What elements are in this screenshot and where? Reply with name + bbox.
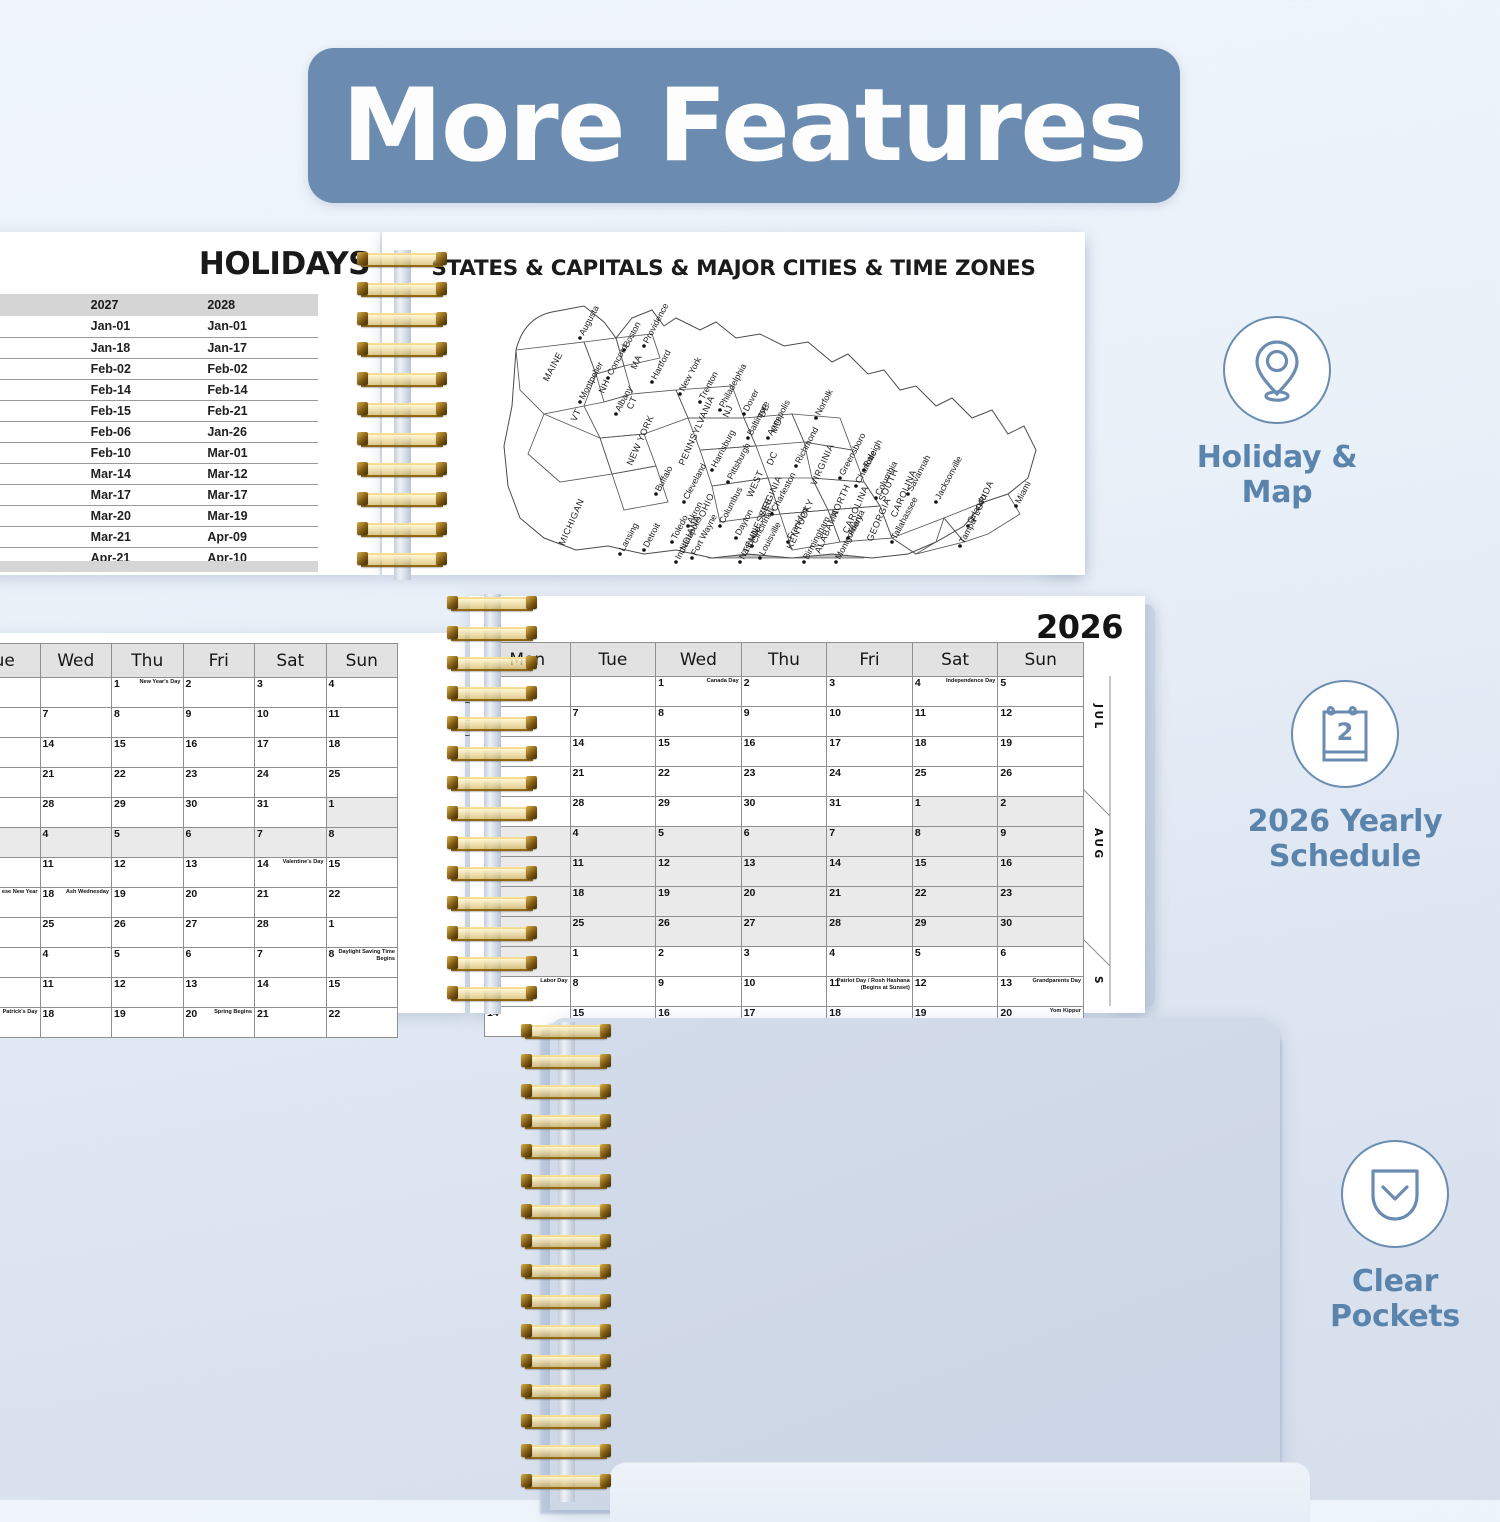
calendar-day-cell[interactable]: 9 [741, 707, 827, 737]
spiral-loop-cap [447, 686, 458, 699]
calendar-day-cell[interactable]: 24 [255, 768, 327, 798]
calendar-day-number: 25 [329, 768, 341, 780]
spiral-loop-cap [447, 596, 458, 609]
calendar-day-number: 5 [658, 827, 664, 839]
spiral-loop-cap [447, 956, 458, 969]
map-page-title: STATES & CAPITALS & MAJOR CITIES & TIME … [382, 256, 1085, 281]
calendar-day-cell[interactable]: 29 [912, 917, 998, 947]
calendar-day-cell[interactable] [0, 678, 40, 708]
calendar-day-cell[interactable]: 3 [255, 678, 327, 708]
spiral-loop [448, 686, 536, 701]
calendar-day-cell[interactable]: 25 [40, 918, 112, 948]
calendar-day-number: 21 [257, 888, 269, 900]
calendar-week-row: 17181920212223 [485, 887, 1084, 917]
spiral-loop-cap [447, 926, 458, 939]
calendar-day-cell[interactable] [0, 858, 40, 888]
calendar-day-number: 9 [186, 708, 192, 720]
calendar-left-page: ueWedThuFriSatSun 1New Year's Day2347891… [0, 633, 465, 1013]
spiral-loop [522, 1354, 610, 1369]
holidays-cell: Jan-18 [85, 337, 202, 358]
calendar-day-cell[interactable]: 27 [183, 918, 255, 948]
calendar-day-cell[interactable]: 18Ash Wednesday [40, 888, 112, 918]
spiral-loop-cap [521, 1114, 532, 1127]
calendar-day-cell[interactable]: 15 [656, 737, 742, 767]
calendar-day-cell[interactable] [40, 678, 112, 708]
calendar-day-cell[interactable]: 30 [998, 917, 1084, 947]
calendar-day-cell[interactable]: 31 [255, 798, 327, 828]
calendar-day-number: 16 [744, 737, 756, 749]
calendar-day-number: 2 [1000, 797, 1006, 809]
feature-label: Clear Pockets [1290, 1264, 1500, 1335]
calendar-day-cell[interactable]: 4 [570, 827, 656, 857]
spiral-loop [522, 1114, 610, 1129]
spiral-loop [448, 986, 536, 1001]
spiral-loop [448, 656, 536, 671]
calendar-week-row: ese New Year18Ash Wednesday19202122 [0, 888, 398, 918]
spiral-loop [522, 1174, 610, 1189]
calendar-day-number: 11 [915, 707, 926, 719]
spiral-loop-cap [357, 552, 368, 565]
calendar-day-cell[interactable]: 21 [570, 767, 656, 797]
spiral-loop [522, 1474, 610, 1489]
calendar-day-cell[interactable]: 26 [112, 918, 184, 948]
holiday-map-spread: HOLIDAYS 620272028 1Jan-01Jan-019Jan-18J… [0, 232, 1095, 582]
calendar-day-cell[interactable]: 12 [912, 977, 998, 1007]
spiral-loop-cap [526, 686, 537, 699]
calendar-day-cell[interactable]: 2 [741, 677, 827, 707]
calendar-day-number: 26 [114, 918, 126, 930]
calendar-day-number: 4 [829, 947, 835, 959]
calendar-day-cell[interactable]: 16 [183, 738, 255, 768]
calendar-day-number: 29 [658, 797, 670, 809]
calendar-year-label: 2026 [1036, 608, 1123, 646]
calendar-right-header-row: MonTueWedThuFriSatSun [485, 643, 1084, 677]
calendar-day-cell[interactable]: 16 [998, 857, 1084, 887]
spiral-loop-cap [436, 522, 447, 535]
calendar-event-label: New Year's Day [139, 679, 180, 686]
calendar-day-cell[interactable]: 4 [40, 828, 112, 858]
calendar-week-row: 11121314Valentine's Day15 [0, 858, 398, 888]
calendar-day-number: 6 [744, 827, 750, 839]
calendar-week-row: 1New Year's Day234 [0, 678, 398, 708]
calendar-day-cell[interactable]: 29 [112, 798, 184, 828]
calendar-day-cell[interactable] [0, 768, 40, 798]
calendar-day-cell[interactable]: 11Patriot Day / Rosh Hashana (Begins at … [827, 977, 913, 1007]
holidays-cell: Apr-09 [201, 526, 318, 547]
calendar-day-cell[interactable]: 3 [827, 677, 913, 707]
calendar-day-cell[interactable]: 13Grandparents Day [998, 977, 1084, 1007]
calendar-day-cell[interactable]: 28 [570, 797, 656, 827]
calendar-day-cell[interactable]: 6 [741, 827, 827, 857]
holidays-cell: 7 [0, 421, 85, 442]
calendar-day-cell[interactable]: 17 [255, 738, 327, 768]
notebook-cover-with-pocket [500, 1010, 1280, 1510]
calendar-day-cell[interactable]: 6 [998, 947, 1084, 977]
calendar-day-cell[interactable]: 20 [183, 888, 255, 918]
calendar-day-cell[interactable]: 5 [912, 947, 998, 977]
calendar-day-number: 26 [658, 917, 670, 929]
calendar-day-cell[interactable]: 10 [741, 977, 827, 1007]
calendar-day-number: 4 [329, 678, 335, 690]
calendar-day-cell[interactable]: 9 [656, 977, 742, 1007]
calendar-day-number: 2 [186, 678, 192, 690]
calendar-day-cell[interactable]: 11 [326, 708, 398, 738]
calendar-day-cell[interactable]: 9 [998, 827, 1084, 857]
calendar-day-cell[interactable]: 28 [827, 917, 913, 947]
calendar-day-number: 7 [257, 948, 263, 960]
calendar-day-number: 8 [915, 827, 921, 839]
calendar-day-cell[interactable]: 13 [183, 978, 255, 1008]
holidays-cell: Feb-21 [201, 400, 318, 421]
calendar-week-row: 45678 [0, 828, 398, 858]
page-title: HOLIDAYS [199, 246, 370, 282]
calendar-day-cell[interactable]: 9 [183, 708, 255, 738]
calendar-day-cell[interactable]: 8 [912, 827, 998, 857]
calendar-day-number: 22 [114, 768, 126, 780]
calendar-day-number: 6 [186, 828, 192, 840]
spiral-loop [358, 372, 446, 387]
calendar-day-number: 18 [915, 737, 927, 749]
feature-holiday-map[interactable]: Holiday & Map [1172, 316, 1382, 511]
table-row: 8Feb-10Mar-01 [0, 442, 318, 463]
calendar-day-cell[interactable]: 7 [570, 707, 656, 737]
calendar-day-number: 19 [114, 1008, 126, 1020]
calendar-day-number: 24 [257, 768, 269, 780]
calendar-day-cell[interactable]: 19 [998, 737, 1084, 767]
calendar-day-cell[interactable]: 7 [40, 708, 112, 738]
calendar-day-cell[interactable]: 20Spring Begins [183, 1008, 255, 1038]
calendar-day-cell[interactable]: 21 [827, 887, 913, 917]
calendar-day-cell[interactable]: 19 [112, 888, 184, 918]
calendar-day-number: 2 [744, 677, 750, 689]
spiral-loop [358, 282, 446, 297]
calendar-day-cell[interactable]: 4 [40, 948, 112, 978]
calendar-day-cell[interactable]: 12 [112, 978, 184, 1008]
calendar-day-cell[interactable]: 19 [656, 887, 742, 917]
calendar-day-cell[interactable]: 18 [570, 887, 656, 917]
calendar-day-number: 25 [915, 767, 927, 779]
calendar-day-number: 8 [573, 977, 579, 989]
calendar-day-cell[interactable]: 21 [255, 1008, 327, 1038]
spiral-loop-cap [600, 1294, 611, 1307]
calendar-day-cell[interactable]: 12 [656, 857, 742, 887]
calendar-day-cell[interactable]: 1New Year's Day [112, 678, 184, 708]
calendar-day-number: 3 [829, 677, 835, 689]
calendar-day-cell[interactable] [0, 828, 40, 858]
calendar-day-cell[interactable]: 12 [112, 858, 184, 888]
calendar-day-cell[interactable] [0, 708, 40, 738]
spiral-loop-cap [526, 746, 537, 759]
calendar-week-row: 252627281 [0, 918, 398, 948]
feature-yearly-schedule[interactable]: 2 2026 Yearly Schedule [1240, 680, 1450, 875]
calendar-day-cell[interactable]: ese New Year [0, 888, 40, 918]
holidays-col-header: 2028 [201, 294, 318, 316]
calendar-day-cell[interactable]: 25 [326, 768, 398, 798]
spiral-loop-cap [521, 1024, 532, 1037]
holidays-cell: Feb-14 [85, 379, 202, 400]
calendar-day-cell[interactable]: 13 [741, 857, 827, 887]
calendar-week-row: 6789101112 [485, 707, 1084, 737]
calendar-day-cell[interactable]: 4 [827, 947, 913, 977]
table-row: 08Mar-14Mar-12 [0, 463, 318, 484]
table-row: 1Jan-01Jan-01 [0, 316, 318, 337]
calendar-day-cell[interactable]: 1 [326, 798, 398, 828]
calendar-day-number: 15 [915, 857, 927, 869]
spiral-loop-cap [521, 1474, 532, 1487]
spiral-loop [448, 596, 536, 611]
calendar-day-number: 17 [829, 737, 841, 749]
calendar-day-number: 21 [829, 887, 841, 899]
spiral-loop [522, 1234, 610, 1249]
spiral-loop-cap [521, 1084, 532, 1097]
calendar-day-cell[interactable]: 22 [326, 1008, 398, 1038]
calendar-day-cell[interactable]: 23 [741, 767, 827, 797]
calendar-day-cell[interactable]: 18 [40, 1008, 112, 1038]
calendar-day-number: 12 [1000, 707, 1012, 719]
calendar-week-row: 1112131415 [0, 978, 398, 1008]
calendar-day-cell[interactable]: 7 [827, 827, 913, 857]
calendar-day-number: 10 [744, 977, 756, 989]
spiral-loop-cap [436, 252, 447, 265]
calendar-day-number: 9 [658, 977, 664, 989]
calendar-event-label: Spring Begins [214, 1009, 252, 1016]
calendar-day-cell[interactable]: 28 [40, 798, 112, 828]
calendar-day-cell[interactable]: 7 [255, 948, 327, 978]
calendar-day-cell[interactable]: 28 [255, 918, 327, 948]
calendar-day-number: 1 [915, 797, 921, 809]
states-map-page: STATES & CAPITALS & MAJOR CITIES & TIME … [382, 232, 1085, 575]
calendar-day-cell[interactable]: 7 [255, 828, 327, 858]
month-tab-strip: JUL AUG S [1084, 676, 1116, 1006]
calendar-day-cell[interactable]: 22 [326, 888, 398, 918]
calendar-day-cell[interactable]: 8 [570, 977, 656, 1007]
calendar-day-cell[interactable]: 15 [112, 738, 184, 768]
spiral-loop-cap [521, 1144, 532, 1157]
calendar-day-cell[interactable] [0, 738, 40, 768]
spiral-loop [522, 1264, 610, 1279]
holidays-cell: 8 [0, 442, 85, 463]
calendar-day-cell[interactable]: 26 [656, 917, 742, 947]
calendar-day-cell[interactable]: 13 [183, 858, 255, 888]
table-row: 20Mar-20Mar-19 [0, 505, 318, 526]
calendar-day-cell[interactable]: 10 [827, 707, 913, 737]
calendar-week-row: 1415161718 [0, 738, 398, 768]
calendar-day-cell[interactable]: 22 [912, 887, 998, 917]
calendar-event-label: Labor Day [540, 978, 567, 985]
calendar-day-cell[interactable]: 27 [741, 917, 827, 947]
holidays-cell: Mar-20 [85, 505, 202, 526]
holidays-cell: Feb-02 [201, 358, 318, 379]
holidays-cell: Feb-02 [85, 358, 202, 379]
calendar-day-number: 23 [1000, 887, 1012, 899]
holidays-body: 1Jan-01Jan-019Jan-18Jan-1702Feb-02Feb-02… [0, 316, 318, 568]
spiral-loop-cap [357, 372, 368, 385]
calendar-day-cell[interactable]: 1 [912, 797, 998, 827]
calendar-day-number: 6 [186, 948, 192, 960]
spiral-loop-cap [521, 1324, 532, 1337]
spiral-loop-cap [357, 252, 368, 265]
spiral-loop-cap [436, 402, 447, 415]
calendar-day-number: 14 [257, 858, 269, 870]
spiral-binding-top [358, 250, 446, 580]
calendar-day-cell[interactable]: 8 [112, 708, 184, 738]
spiral-loop-cap [447, 836, 458, 849]
calendar-day-cell[interactable]: 22 [112, 768, 184, 798]
calendar-day-cell[interactable]: 11 [570, 857, 656, 887]
calendar-day-number: 14 [43, 738, 55, 750]
spiral-loop-cap [357, 462, 368, 475]
calendar-day-cell[interactable] [0, 948, 40, 978]
calendar-day-cell[interactable]: 2 [183, 678, 255, 708]
calendar-day-cell[interactable] [570, 677, 656, 707]
calendar-day-number: 3 [744, 947, 750, 959]
calendar-day-cell[interactable]: 1 [326, 918, 398, 948]
calendar-day-cell[interactable]: 12 [998, 707, 1084, 737]
calendar-day-cell[interactable]: 8Daylight Saving Time Begins [326, 948, 398, 978]
calendar-day-cell[interactable]: 4 [326, 678, 398, 708]
clear-pocket [610, 1462, 1310, 1522]
holidays-cell: Feb-10 [85, 442, 202, 463]
calendar-day-cell[interactable]: 5 [998, 677, 1084, 707]
calendar-day-number: 29 [114, 798, 126, 810]
calendar-day-cell[interactable]: 1 [570, 947, 656, 977]
spiral-loop-cap [521, 1384, 532, 1397]
calendar-day-cell[interactable]: 19 [112, 1008, 184, 1038]
spiral-loop [522, 1414, 610, 1429]
holidays-cell: Mar-14 [85, 463, 202, 484]
spiral-loop-cap [526, 866, 537, 879]
yearly-calendar-spread: ueWedThuFriSatSun 1New Year's Day2347891… [0, 578, 1170, 1018]
calendar-day-cell[interactable]: 5 [112, 948, 184, 978]
calendar-day-cell[interactable]: 6 [183, 948, 255, 978]
calendar-day-number: 5 [114, 948, 120, 960]
calendar-day-cell[interactable]: 5 [112, 828, 184, 858]
calendar-day-cell[interactable] [0, 918, 40, 948]
calendar-day-cell[interactable]: 11 [40, 858, 112, 888]
calendar-day-cell[interactable]: 22 [656, 767, 742, 797]
spiral-loop-cap [521, 1444, 532, 1457]
calendar-day-cell[interactable]: 23 [998, 887, 1084, 917]
spiral-loop-cap [600, 1114, 611, 1127]
calendar-day-cell[interactable]: 2 [656, 947, 742, 977]
spiral-loop [522, 1324, 610, 1339]
calendar-day-cell[interactable]: 23 [183, 768, 255, 798]
calendar-day-cell[interactable]: 14Valentine's Day [255, 858, 327, 888]
spiral-loop-cap [521, 1414, 532, 1427]
calendar-day-cell[interactable]: 16 [741, 737, 827, 767]
calendar-day-cell[interactable]: 3 [741, 947, 827, 977]
calendar-day-cell[interactable]: 25 [570, 917, 656, 947]
calendar-day-cell[interactable]: 29 [656, 797, 742, 827]
holidays-cell: 29 [0, 526, 85, 547]
calendar-day-number: 1 [573, 947, 579, 959]
calendar-day-cell[interactable]: Patrick's Day [0, 1008, 40, 1038]
calendar-day-cell[interactable]: 15 [326, 978, 398, 1008]
calendar-weekday-header: Fri [827, 643, 913, 677]
feature-clear-pockets[interactable]: Clear Pockets [1290, 1140, 1500, 1335]
calendar-day-cell[interactable]: 14 [255, 978, 327, 1008]
spiral-loop-cap [447, 656, 458, 669]
holidays-cell: Mar-12 [201, 463, 318, 484]
calendar-weekday-header: Sun [998, 643, 1084, 677]
spiral-loop-cap [447, 776, 458, 789]
calendar-day-number: 1 [329, 798, 335, 810]
calendar-day-cell[interactable]: 2 [998, 797, 1084, 827]
calendar-day-cell[interactable]: 6 [183, 828, 255, 858]
calendar-day-cell[interactable]: 17 [827, 737, 913, 767]
calendar-week-row: 20212223242526 [485, 767, 1084, 797]
calendar-day-cell[interactable]: 1Canada Day [656, 677, 742, 707]
calendar-day-cell[interactable]: 26 [998, 767, 1084, 797]
calendar-day-cell[interactable]: 10 [255, 708, 327, 738]
spiral-loop [522, 1204, 610, 1219]
spiral-loop-cap [526, 986, 537, 999]
spiral-loop [448, 896, 536, 911]
calendar-day-cell[interactable]: 24 [827, 767, 913, 797]
spiral-loop [522, 1024, 610, 1039]
calendar-day-cell[interactable]: 18 [326, 738, 398, 768]
spiral-loop [358, 522, 446, 537]
spiral-loop-cap [600, 1054, 611, 1067]
spiral-loop [522, 1294, 610, 1309]
calendar-day-cell[interactable]: 15 [326, 858, 398, 888]
calendar-day-cell[interactable]: 21 [40, 768, 112, 798]
calendar-day-number: 22 [329, 1008, 341, 1020]
spiral-loop [522, 1144, 610, 1159]
calendar-day-cell[interactable] [0, 978, 40, 1008]
calendar-day-cell[interactable]: 14 [40, 738, 112, 768]
calendar-day-number: 13 [186, 978, 198, 990]
calendar-day-number: 4 [43, 948, 49, 960]
calendar-day-cell[interactable]: 8 [656, 707, 742, 737]
calendar-day-cell[interactable]: 8 [326, 828, 398, 858]
spiral-loop-cap [600, 1084, 611, 1097]
calendar-day-number: 15 [658, 737, 670, 749]
spiral-loop [358, 552, 446, 567]
calendar-day-cell[interactable]: 18 [912, 737, 998, 767]
calendar-day-number: 20 [186, 1008, 198, 1020]
calendar-day-cell[interactable]: 5 [656, 827, 742, 857]
calendar-day-number: 5 [114, 828, 120, 840]
calendar-day-cell[interactable]: 25 [912, 767, 998, 797]
calendar-day-cell[interactable] [0, 798, 40, 828]
calendar-day-cell[interactable]: 31 [827, 797, 913, 827]
calendar-day-cell[interactable]: 20 [741, 887, 827, 917]
spiral-loop-cap [600, 1474, 611, 1487]
calendar-day-number: 6 [1000, 947, 1006, 959]
calendar-day-cell[interactable]: 30 [183, 798, 255, 828]
calendar-week-row: 7891011 [0, 708, 398, 738]
calendar-day-cell[interactable]: 21 [255, 888, 327, 918]
calendar-day-number: 24 [829, 767, 841, 779]
notebook-front-cover [550, 1018, 1280, 1510]
holidays-cell: Mar-19 [201, 505, 318, 526]
calendar-day-cell[interactable]: 4Independence Day [912, 677, 998, 707]
calendar-day-number: 22 [915, 887, 927, 899]
calendar-day-cell[interactable]: 15 [912, 857, 998, 887]
calendar-day-number: 8 [114, 708, 120, 720]
calendar-day-cell[interactable]: 11 [40, 978, 112, 1008]
feature-label: Holiday & Map [1172, 440, 1382, 511]
spiral-loop-cap [447, 866, 458, 879]
calendar-day-cell[interactable]: 11 [912, 707, 998, 737]
calendar-day-cell[interactable]: 14 [827, 857, 913, 887]
spiral-loop-cap [600, 1234, 611, 1247]
spiral-loop [522, 1084, 610, 1099]
calendar-day-number: 8 [658, 707, 664, 719]
calendar-day-cell[interactable]: 14 [570, 737, 656, 767]
calendar-day-cell[interactable]: 30 [741, 797, 827, 827]
